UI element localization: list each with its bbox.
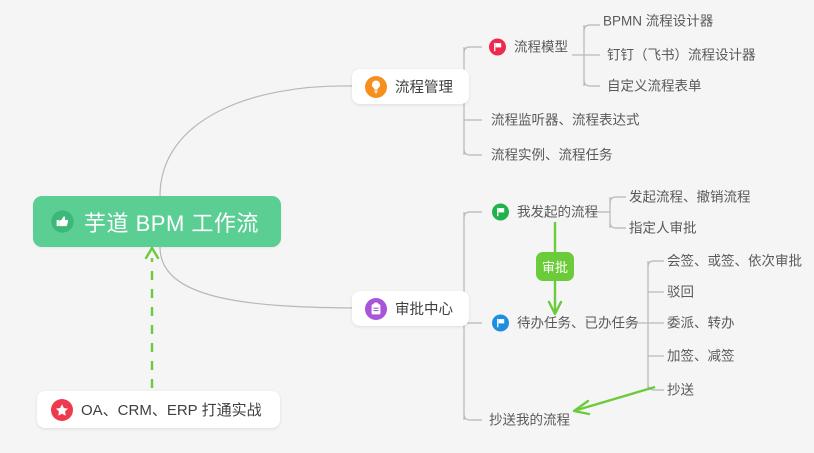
edge-root-to-process-mgmt bbox=[160, 86, 352, 196]
edge-model-to-customform bbox=[584, 80, 600, 86]
node-dingtalk-feishu-designer[interactable]: 钉钉（飞书）流程设计器 bbox=[607, 48, 756, 62]
edge-ac-to-started bbox=[464, 212, 482, 218]
cc-arrow-head bbox=[574, 401, 589, 414]
root-label: 芋道 BPM 工作流 bbox=[84, 206, 259, 238]
mindmap-canvas: 芋道 BPM 工作流 流程管理 审批中心 bbox=[0, 0, 814, 453]
node-dingtalk-feishu-designer-label: 钉钉（飞书）流程设计器 bbox=[607, 48, 756, 62]
node-countersign-label: 会签、或签、依次审批 bbox=[667, 254, 802, 268]
annotation-arrow-oa-to-root bbox=[146, 248, 158, 388]
node-oa-crm-erp-label: OA、CRM、ERP 打通实战 bbox=[81, 399, 262, 420]
node-delegate-transfer-label: 委派、转办 bbox=[667, 316, 735, 330]
node-cc-my-process-label: 抄送我的流程 bbox=[489, 413, 570, 427]
flag-icon-green bbox=[492, 204, 509, 221]
node-delegate-transfer[interactable]: 委派、转办 bbox=[667, 316, 735, 330]
node-bpmn-designer-label: BPMN 流程设计器 bbox=[603, 14, 713, 28]
edge-started-to-start bbox=[610, 197, 626, 203]
node-assignee-approval-label: 指定人审批 bbox=[629, 221, 697, 235]
edge-todo-to-countersign bbox=[648, 261, 664, 267]
dashed-arrow-head bbox=[146, 248, 158, 258]
node-reject-label: 驳回 bbox=[667, 285, 694, 299]
node-todo-done-task-label: 待办任务、已办任务 bbox=[517, 316, 639, 330]
node-cc[interactable]: 抄送 bbox=[667, 383, 694, 397]
node-my-started-process-label: 我发起的流程 bbox=[517, 205, 598, 219]
node-assignee-approval[interactable]: 指定人审批 bbox=[629, 221, 697, 235]
node-process-model-label: 流程模型 bbox=[514, 40, 568, 54]
edge-todo-to-cc bbox=[648, 384, 664, 390]
annotation-arrow-cc bbox=[574, 387, 655, 414]
node-todo-done-task[interactable]: 待办任务、已办任务 bbox=[492, 315, 639, 332]
lightbulb-icon bbox=[365, 76, 387, 98]
flag-icon-blue bbox=[492, 315, 509, 332]
node-process-management-label: 流程管理 bbox=[395, 76, 453, 97]
star-icon bbox=[51, 399, 73, 421]
node-bpmn-designer[interactable]: BPMN 流程设计器 bbox=[603, 14, 713, 28]
node-reject[interactable]: 驳回 bbox=[667, 285, 694, 299]
node-instance-task[interactable]: 流程实例、流程任务 bbox=[491, 148, 613, 162]
node-approval-center[interactable]: 审批中心 bbox=[352, 291, 469, 326]
node-listener-expression[interactable]: 流程监听器、流程表达式 bbox=[491, 113, 640, 127]
node-start-cancel-process[interactable]: 发起流程、撤销流程 bbox=[629, 190, 751, 204]
node-add-remove-sign-label: 加签、减签 bbox=[667, 349, 735, 363]
node-cc-my-process[interactable]: 抄送我的流程 bbox=[489, 413, 570, 427]
node-process-model[interactable]: 流程模型 bbox=[489, 39, 568, 56]
edge-ac-to-ccmine bbox=[464, 414, 482, 420]
edge-pm-to-model bbox=[464, 47, 482, 53]
node-add-remove-sign[interactable]: 加签、减签 bbox=[667, 349, 735, 363]
node-custom-process-form[interactable]: 自定义流程表单 bbox=[607, 79, 702, 93]
edge-started-to-assignee bbox=[610, 222, 626, 228]
edge-model-to-bpmn bbox=[584, 25, 600, 31]
flag-icon-red bbox=[489, 39, 506, 56]
annotation-tag-approve-label: 审批 bbox=[542, 257, 568, 276]
node-my-started-process[interactable]: 我发起的流程 bbox=[492, 204, 598, 221]
node-countersign[interactable]: 会签、或签、依次审批 bbox=[667, 254, 802, 268]
annotation-tag-approve: 审批 bbox=[536, 252, 574, 281]
node-listener-expression-label: 流程监听器、流程表达式 bbox=[491, 113, 640, 127]
node-approval-center-label: 审批中心 bbox=[395, 298, 453, 319]
node-cc-label: 抄送 bbox=[667, 383, 694, 397]
node-process-management[interactable]: 流程管理 bbox=[352, 69, 469, 104]
cc-arrow-line bbox=[577, 387, 655, 410]
edge-pm-to-instance bbox=[464, 149, 482, 155]
node-oa-crm-erp[interactable]: OA、CRM、ERP 打通实战 bbox=[37, 391, 280, 428]
clipboard-icon bbox=[365, 298, 387, 320]
node-instance-task-label: 流程实例、流程任务 bbox=[491, 148, 613, 162]
node-custom-process-form-label: 自定义流程表单 bbox=[607, 79, 702, 93]
approve-arrow-head bbox=[549, 302, 561, 314]
thumbs-up-icon bbox=[51, 210, 74, 233]
edge-root-to-approval-center bbox=[160, 247, 352, 308]
node-start-cancel-process-label: 发起流程、撤销流程 bbox=[629, 190, 751, 204]
root-node[interactable]: 芋道 BPM 工作流 bbox=[33, 196, 281, 247]
